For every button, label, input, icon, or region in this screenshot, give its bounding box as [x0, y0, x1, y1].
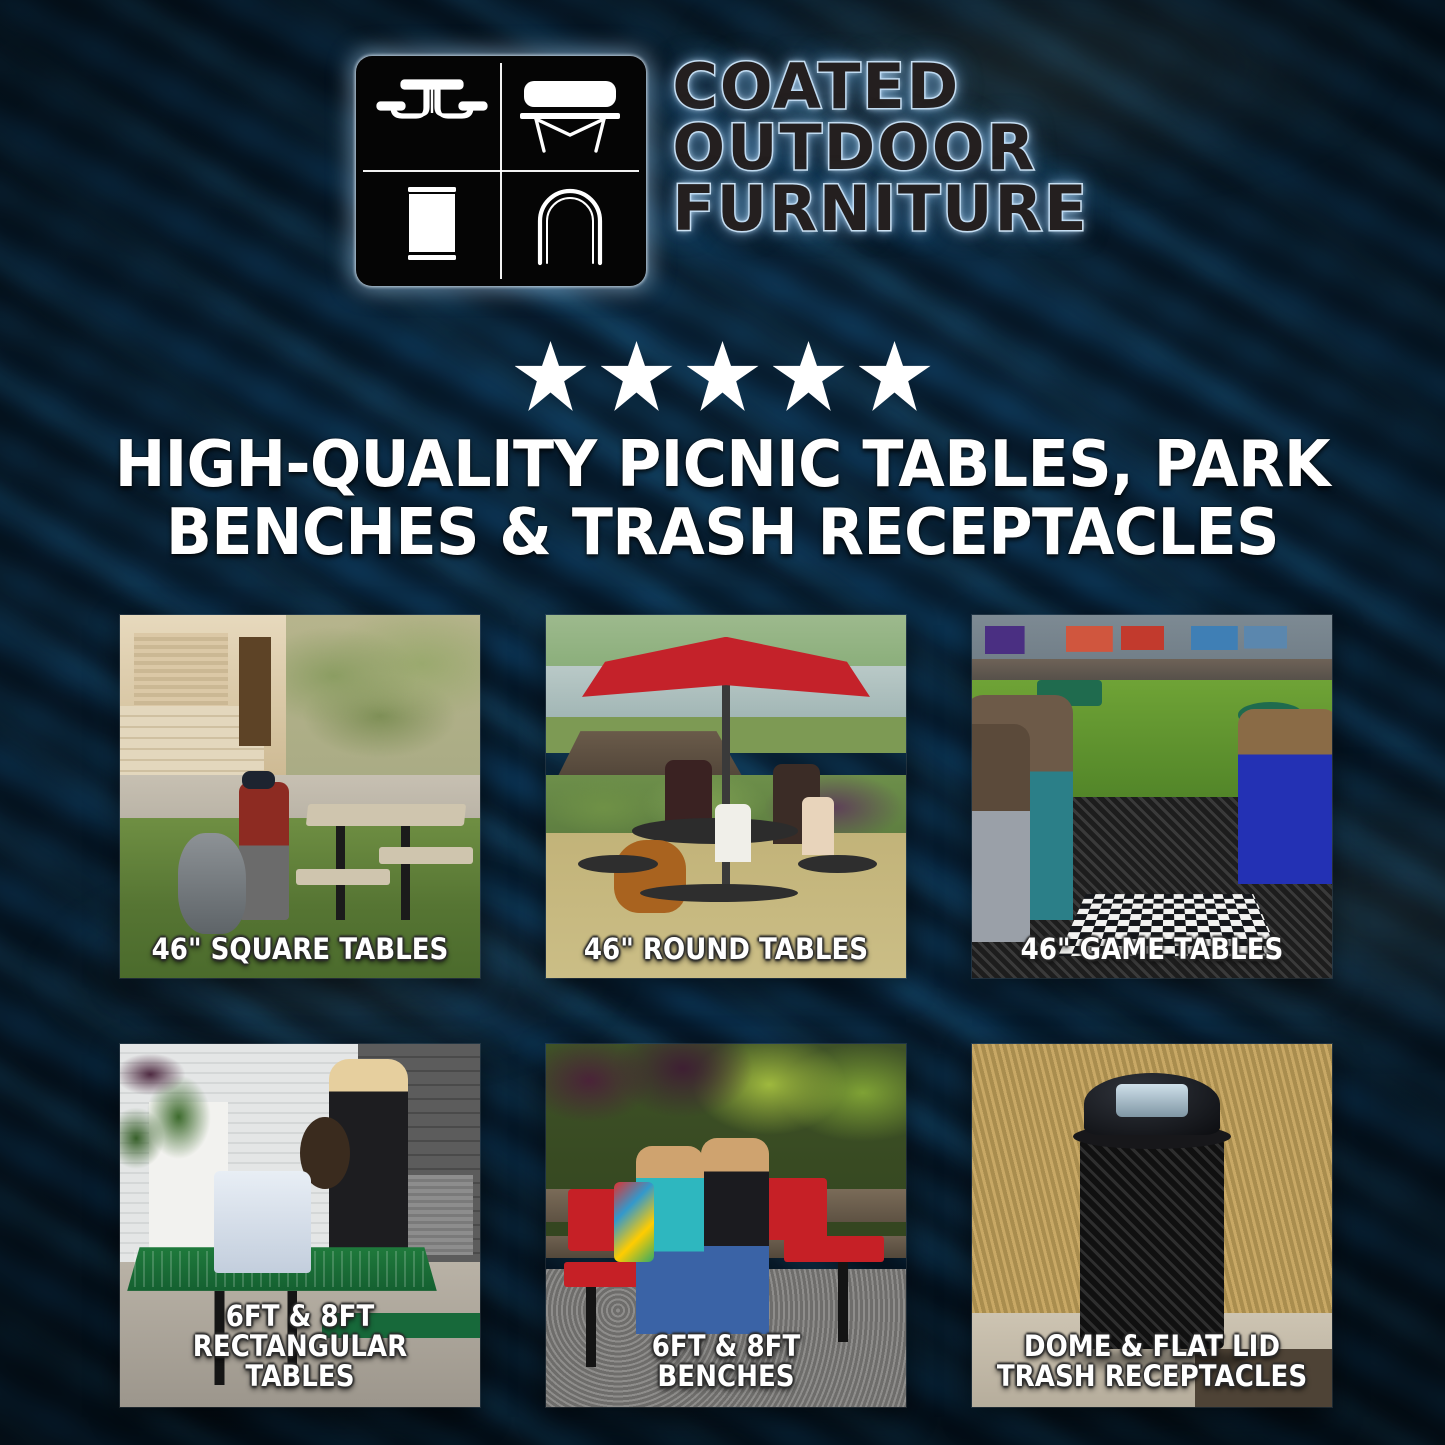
product-card-game-tables[interactable]: 46" GAME TABLES: [972, 615, 1332, 978]
product-caption-rectangular-tables: 6FT & 8FT RECTANGULAR TABLES: [143, 1301, 456, 1407]
star-icon-5: [859, 341, 931, 411]
star-icon-1: [515, 341, 587, 411]
brand-line-3: FURNITURE: [672, 180, 1088, 239]
product-card-square-tables[interactable]: 46" SQUARE TABLES: [120, 615, 480, 978]
picnic-table-icon: [363, 63, 501, 171]
brand-line-2: OUTDOOR: [672, 119, 1088, 178]
product-photo-game-tables: [972, 615, 1332, 978]
product-caption-square-tables: 46" SQUARE TABLES: [143, 934, 456, 978]
promo-banner: COATED OUTDOOR FURNITURE HIGH-QUALITY PI…: [0, 0, 1445, 1445]
product-card-trash-receptacles[interactable]: DOME & FLAT LID TRASH RECEPTACLES: [972, 1044, 1332, 1407]
bench-table-icon: [501, 63, 639, 171]
page-title: HIGH-QUALITY PICNIC TABLES, PARK BENCHES…: [100, 432, 1346, 568]
star-icon-4: [773, 341, 845, 411]
product-photo-square-tables: [120, 615, 480, 978]
bike-rack-arch-icon: [501, 171, 639, 279]
product-card-rectangular-tables[interactable]: 6FT & 8FT RECTANGULAR TABLES: [120, 1044, 480, 1407]
product-caption-round-tables: 46" ROUND TABLES: [569, 934, 882, 978]
product-caption-game-tables: 46" GAME TABLES: [995, 934, 1308, 978]
company-logo-mark: [356, 56, 646, 286]
product-card-benches[interactable]: 6FT & 8FT BENCHES: [546, 1044, 906, 1407]
star-rating: [0, 341, 1445, 411]
trash-receptacle-icon: [363, 171, 501, 279]
star-icon-2: [601, 341, 673, 411]
brand-wordmark: COATED OUTDOOR FURNITURE: [672, 56, 1088, 239]
product-photo-round-tables: [546, 615, 906, 978]
brand-header: COATED OUTDOOR FURNITURE: [0, 56, 1445, 286]
product-caption-benches: 6FT & 8FT BENCHES: [569, 1331, 882, 1407]
star-icon-3: [687, 341, 759, 411]
product-grid: 46" SQUARE TABLES: [120, 615, 1326, 1407]
product-caption-trash-receptacles: DOME & FLAT LID TRASH RECEPTACLES: [995, 1331, 1308, 1407]
product-card-round-tables[interactable]: 46" ROUND TABLES: [546, 615, 906, 978]
brand-line-1: COATED: [672, 58, 1088, 117]
